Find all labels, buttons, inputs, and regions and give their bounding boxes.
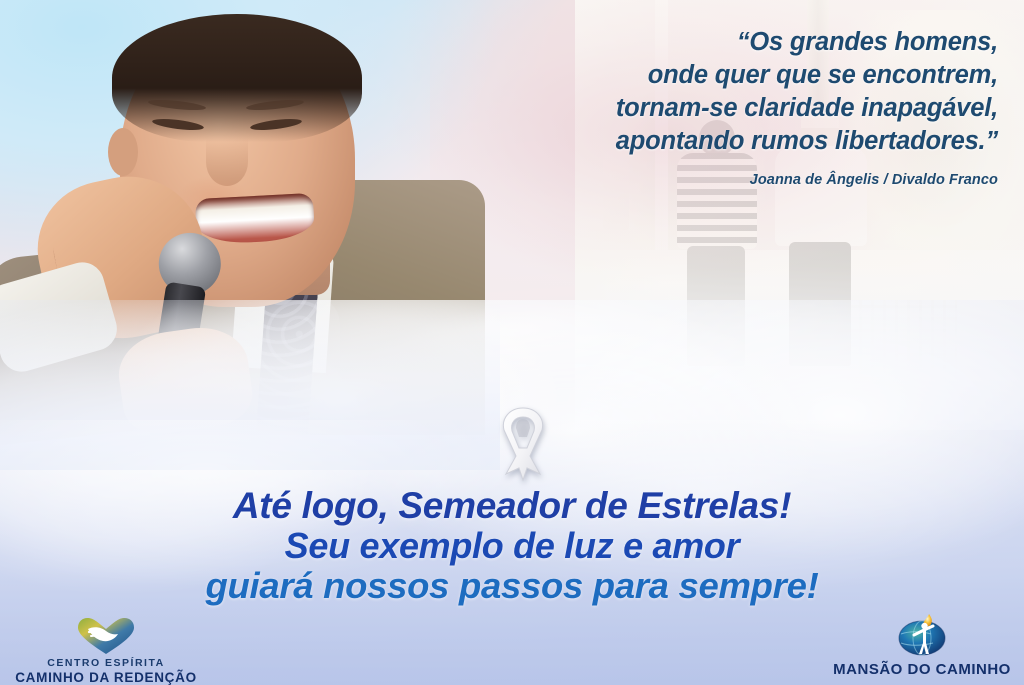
quote-line-4: apontando rumos libertadores.” <box>430 125 998 158</box>
globe-with-figure-icon <box>893 612 951 658</box>
logo-centro-espirita: CENTRO ESPÍRITA CAMINHO DA REDENÇÃO <box>8 616 204 685</box>
portrait-ear <box>108 128 138 176</box>
message-line-3: guiará nossos passos para sempre! <box>0 566 1024 606</box>
quote-line-2: onde quer que se encontrem, <box>430 59 998 92</box>
logo-left-line-2: CAMINHO DA REDENÇÃO <box>8 670 204 685</box>
heart-with-hands-icon <box>75 616 137 656</box>
memorial-poster: “Os grandes homens, onde quer que se enc… <box>0 0 1024 685</box>
logo-right-line-1: MANSÃO DO CAMINHO <box>822 661 1022 678</box>
mourning-ribbon-icon <box>486 404 560 486</box>
quote-text: “Os grandes homens, onde quer que se enc… <box>430 26 998 158</box>
quote-line-1: “Os grandes homens, <box>430 26 998 59</box>
portrait-hair <box>112 14 362 142</box>
logo-left-line-1: CENTRO ESPÍRITA <box>8 657 204 669</box>
message-line-2: Seu exemplo de luz e amor <box>0 526 1024 566</box>
message-line-1: Até logo, Semeador de Estrelas! <box>0 486 1024 526</box>
quote-attribution: Joanna de Ângelis / Divaldo Franco <box>430 172 998 188</box>
quote-line-3: tornam-se claridade inapagável, <box>430 92 998 125</box>
logo-mansao-do-caminho: MANSÃO DO CAMINHO <box>822 612 1022 678</box>
memorial-message: Até logo, Semeador de Estrelas! Seu exem… <box>0 486 1024 606</box>
